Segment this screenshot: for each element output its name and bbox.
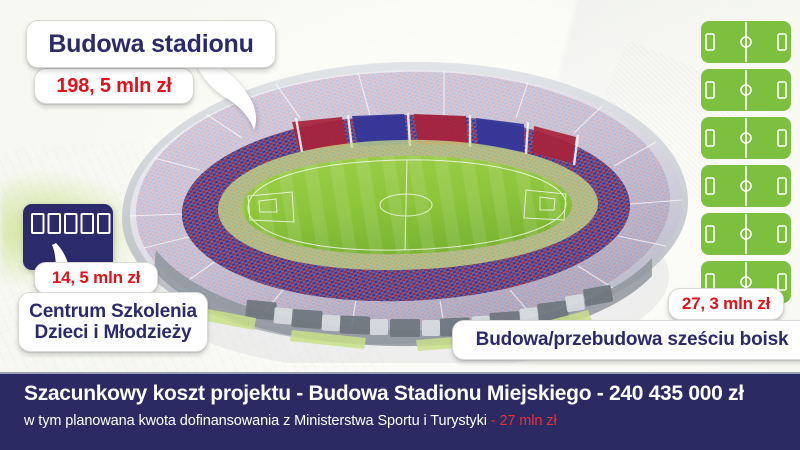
summary-banner: Szacunkowy koszt projektu - Budowa Stadi… bbox=[0, 372, 800, 450]
banner-top-edge bbox=[0, 372, 800, 374]
football-pitch-icon bbox=[700, 20, 792, 64]
callout-pitches-title-text: Budowa/przebudowa sześciu boisk bbox=[476, 329, 789, 351]
callout-stadium-price[interactable]: 198, 5 mln zł bbox=[34, 68, 194, 104]
banner-secondary-accent: - 27 mln zł bbox=[491, 413, 557, 429]
callout-stadium-price-text: 198, 5 mln zł bbox=[56, 75, 171, 98]
pitch-icon-stack bbox=[700, 20, 792, 305]
banner-primary-text: Szacunkowy koszt projektu - Budowa Stadi… bbox=[24, 382, 800, 406]
callout-stadium-title-text: Budowa stadionu bbox=[48, 30, 253, 59]
banner-secondary-prefix: w tym planowana kwota dofinansowania z M… bbox=[24, 413, 491, 429]
football-pitch-icon bbox=[700, 164, 792, 208]
callout-stadium-title[interactable]: Budowa stadionu bbox=[26, 20, 276, 68]
callout-training-centre-title-line1: Centrum Szkolenia bbox=[29, 301, 197, 322]
speech-bubble-tail bbox=[196, 58, 266, 134]
callout-training-centre-title[interactable]: Centrum Szkolenia Dzieci i Młodzieży bbox=[18, 292, 208, 352]
building-icon bbox=[22, 203, 114, 271]
football-pitch-icon bbox=[700, 68, 792, 112]
callout-pitches-price[interactable]: 27, 3 mln zł bbox=[668, 288, 784, 320]
callout-training-centre-price-text: 14, 5 mln zł bbox=[52, 268, 140, 288]
callout-pitches-title[interactable]: Budowa/przebudowa sześciu boisk bbox=[452, 320, 800, 360]
banner-secondary-text: w tym planowana kwota dofinansowania z M… bbox=[24, 413, 800, 429]
football-pitch-icon bbox=[700, 116, 792, 160]
callout-pitches-price-text: 27, 3 mln zł bbox=[682, 294, 770, 314]
infographic-stage: Budowa stadionu 198, 5 mln zł 14, 5 mln … bbox=[0, 0, 800, 450]
callout-training-centre-title-line2: Dzieci i Młodzieży bbox=[35, 322, 192, 343]
football-pitch-icon bbox=[700, 212, 792, 256]
callout-training-centre-price[interactable]: 14, 5 mln zł bbox=[34, 262, 158, 294]
